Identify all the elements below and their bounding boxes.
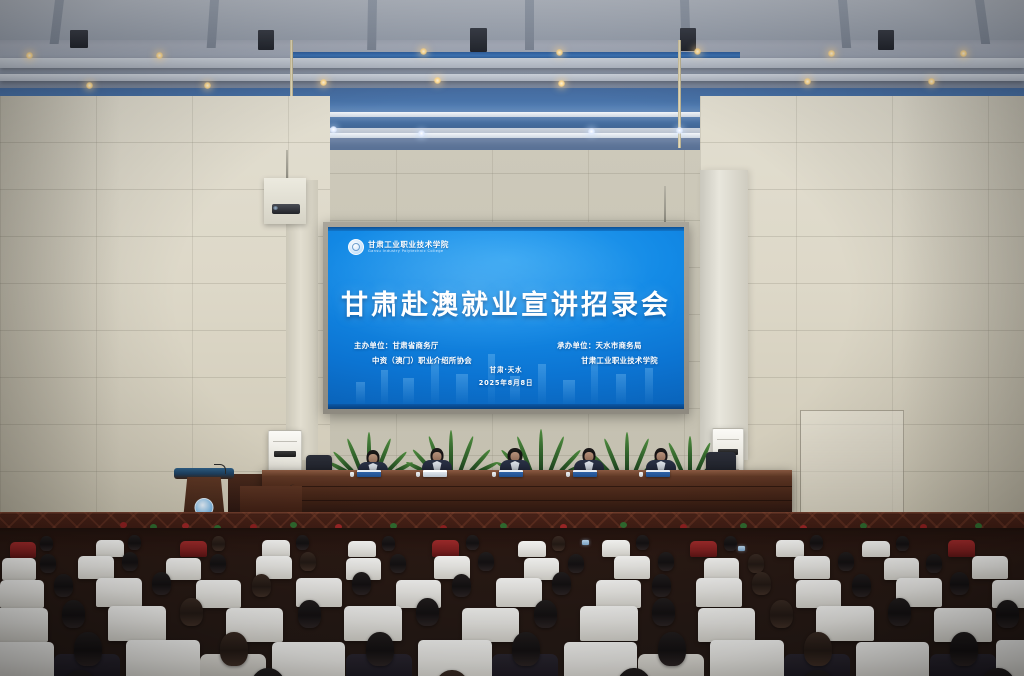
name-placard-4 — [573, 470, 597, 477]
conference-hall-photo: 甘肃工业职业技术学院 Gansu Industry Polytechnic Co… — [0, 0, 1024, 676]
slide-footer: 甘肃·天水 2025年8月8日 — [328, 364, 684, 387]
cohost-line-1: 承办单位：天水市商务局 — [557, 340, 658, 351]
water-cup-4 — [566, 472, 570, 477]
led-screen-frame: 甘肃工业职业技术学院 Gansu Industry Polytechnic Co… — [323, 222, 689, 414]
water-cup-3 — [492, 472, 496, 477]
name-placard-5 — [646, 470, 670, 477]
college-name-en: Gansu Industry Polytechnic College — [368, 250, 449, 254]
college-name-cn: 甘肃工业职业技术学院 — [368, 241, 449, 249]
right-wall-shadow — [900, 96, 1024, 566]
gooseneck-mic-icon — [214, 464, 226, 474]
stage-right-column — [700, 170, 748, 460]
slide-date: 2025年8月8日 — [479, 377, 534, 387]
led-screen: 甘肃工业职业技术学院 Gansu Industry Polytechnic Co… — [328, 227, 684, 409]
host-line-1: 主办单位：甘肃省商务厅 — [354, 340, 472, 351]
slide-title: 甘肃赴澳就业宣讲招录会 — [328, 283, 684, 322]
name-placard-3 — [499, 470, 523, 477]
water-cup-5 — [639, 472, 643, 477]
slide-location: 甘肃·天水 — [490, 364, 523, 374]
attendee-phone — [582, 540, 589, 545]
water-cup-1 — [350, 472, 354, 477]
name-placard-1 — [357, 470, 381, 477]
left-wall-shadow — [0, 96, 120, 566]
college-seal-icon — [348, 239, 364, 255]
slide-organizers: 主办单位：甘肃省商务厅 中资（澳门）职业介绍所协会 承办单位：天水市商务局 甘肃… — [354, 340, 658, 366]
audience-seating — [0, 528, 1024, 676]
slide-college-logo: 甘肃工业职业技术学院 Gansu Industry Polytechnic Co… — [348, 239, 449, 255]
name-placard-2 — [423, 470, 447, 477]
attendee-phone-2 — [738, 546, 745, 551]
water-cup-2 — [416, 472, 420, 477]
